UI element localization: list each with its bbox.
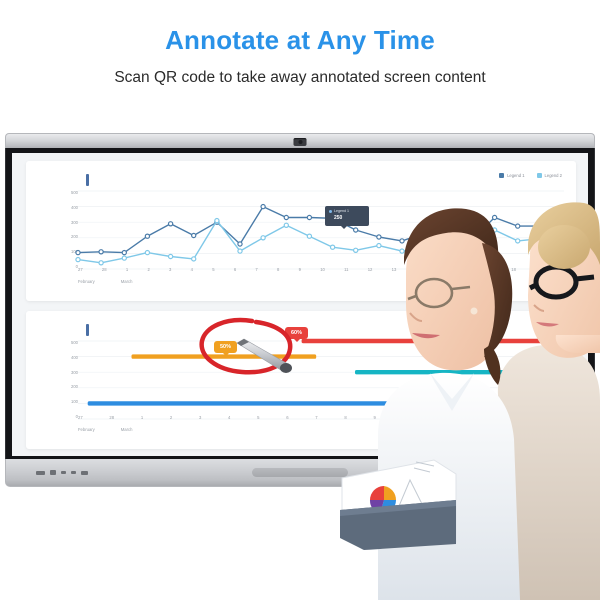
x-tick: 1 <box>126 267 128 275</box>
line-data-point[interactable] <box>354 228 358 232</box>
tooltip-value: 250 <box>334 215 365 221</box>
bar-badge-orange: 50% <box>214 341 237 353</box>
tooltip-series-label: Legend 1 <box>329 209 365 213</box>
line-data-point[interactable] <box>122 251 126 255</box>
x-tick: 28 <box>109 415 114 423</box>
x-tick: 7 <box>315 415 317 423</box>
month-label: February <box>78 427 95 432</box>
x-tick: 5 <box>212 267 214 275</box>
x-tick: 4 <box>228 415 230 423</box>
usb-port-icon <box>50 470 56 475</box>
x-tick: 27 <box>78 267 83 275</box>
x-tick: 8 <box>277 267 279 275</box>
line-data-point[interactable] <box>307 215 311 219</box>
x-tick: 2 <box>170 415 172 423</box>
line-data-point[interactable] <box>76 258 80 262</box>
line-data-point[interactable] <box>238 242 242 246</box>
page-header: Annotate at Any Time Scan QR code to tak… <box>0 0 600 87</box>
x-tick: 1 <box>141 415 143 423</box>
line-data-point[interactable] <box>307 234 311 238</box>
x-tick: 3 <box>199 415 201 423</box>
headline: Annotate at Any Time <box>0 26 600 55</box>
x-tick: 7 <box>255 267 257 275</box>
line-data-point[interactable] <box>99 250 103 254</box>
line-data-point[interactable] <box>354 248 358 252</box>
x-tick: 11 <box>344 267 348 275</box>
usb-port-icon <box>61 471 66 474</box>
x-tick: 8 <box>344 415 346 423</box>
x-tick: 4 <box>191 267 193 275</box>
month-label: March <box>121 427 133 432</box>
x-tick: 27 <box>78 415 83 423</box>
line-data-point[interactable] <box>145 234 149 238</box>
x-tick: 6 <box>286 415 288 423</box>
x-tick: 5 <box>257 415 259 423</box>
chart-tooltip: Legend 1 250 <box>325 206 369 226</box>
line-data-point[interactable] <box>122 256 126 260</box>
line-data-point[interactable] <box>99 261 103 265</box>
port-row <box>36 470 88 475</box>
x-tick: 2 <box>147 267 149 275</box>
x-tick: 12 <box>368 267 373 275</box>
x-tick: 3 <box>169 267 171 275</box>
bar-chart-month-labels: February March <box>78 427 198 432</box>
x-tick: 10 <box>320 267 325 275</box>
line-data-point[interactable] <box>284 215 288 219</box>
line-data-point[interactable] <box>215 219 219 223</box>
stylus-pen[interactable] <box>236 336 298 378</box>
document-folder <box>330 438 460 550</box>
line-data-point[interactable] <box>284 223 288 227</box>
audio-port-icon <box>71 471 76 474</box>
x-tick: 9 <box>373 415 375 423</box>
line-data-point[interactable] <box>192 257 196 261</box>
x-tick: 28 <box>102 267 107 275</box>
line-data-point[interactable] <box>261 236 265 240</box>
month-label: March <box>121 279 133 284</box>
line-data-point[interactable] <box>145 251 149 255</box>
x-tick: 9 <box>299 267 301 275</box>
line-data-point[interactable] <box>238 249 242 253</box>
subheadline: Scan QR code to take away annotated scre… <box>0 69 600 87</box>
line-data-point[interactable] <box>261 205 265 209</box>
line-data-point[interactable] <box>331 245 335 249</box>
line-data-point[interactable] <box>76 251 80 255</box>
camera-icon <box>294 138 307 146</box>
display-top-bezel <box>5 133 595 149</box>
x-tick: 6 <box>234 267 236 275</box>
month-label: February <box>78 279 95 284</box>
line-data-point[interactable] <box>169 254 173 258</box>
lan-port-icon <box>81 471 88 475</box>
hdmi-port-icon <box>36 471 45 475</box>
line-chart-month-labels: February March <box>78 279 198 284</box>
line-data-point[interactable] <box>169 222 173 226</box>
line-data-point[interactable] <box>192 233 196 237</box>
